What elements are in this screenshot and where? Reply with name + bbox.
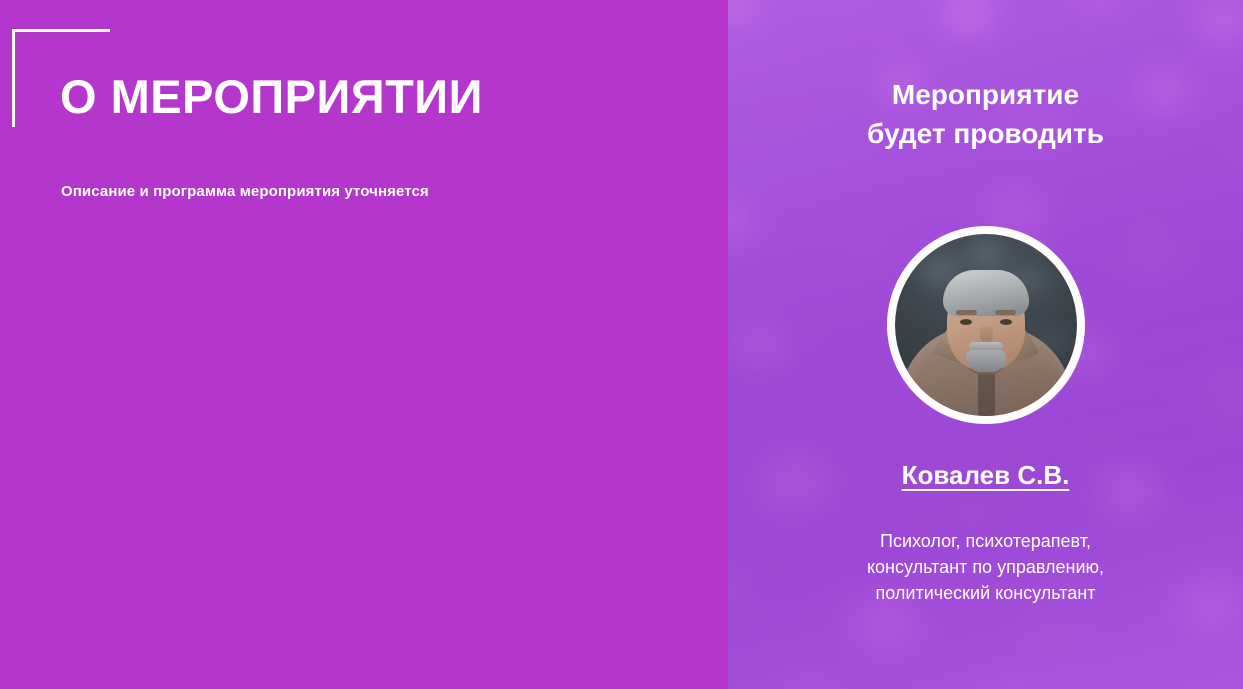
speaker-avatar	[887, 226, 1085, 424]
left-panel: О МЕРОПРИЯТИИ Описание и программа мероп…	[0, 0, 728, 689]
photo-beard	[966, 350, 1006, 372]
speaker-name-link[interactable]: Ковалев С.В.	[728, 460, 1243, 491]
photo-eye-left	[960, 319, 972, 325]
right-panel: Мероприятие будет проводить	[728, 0, 1243, 689]
photo-eye-right	[1000, 319, 1012, 325]
photo-eyebrow-left	[956, 310, 977, 315]
speaker-section-heading: Мероприятие будет проводить	[728, 76, 1243, 153]
speaker-photo	[895, 234, 1077, 416]
page-title: О МЕРОПРИЯТИИ	[60, 72, 483, 121]
right-panel-content: Мероприятие будет проводить	[728, 0, 1243, 689]
photo-hair	[943, 270, 1029, 316]
photo-eyebrow-right	[995, 310, 1016, 315]
page-subtitle: Описание и программа мероприятия уточняе…	[61, 183, 429, 200]
slide-page: О МЕРОПРИЯТИИ Описание и программа мероп…	[0, 0, 1243, 689]
speaker-heading-line-1: Мероприятие	[728, 76, 1243, 115]
photo-nose	[980, 326, 993, 343]
speaker-heading-line-2: будет проводить	[728, 115, 1243, 154]
speaker-role-description: Психолог, психотерапевт, консультант по …	[856, 528, 1116, 606]
